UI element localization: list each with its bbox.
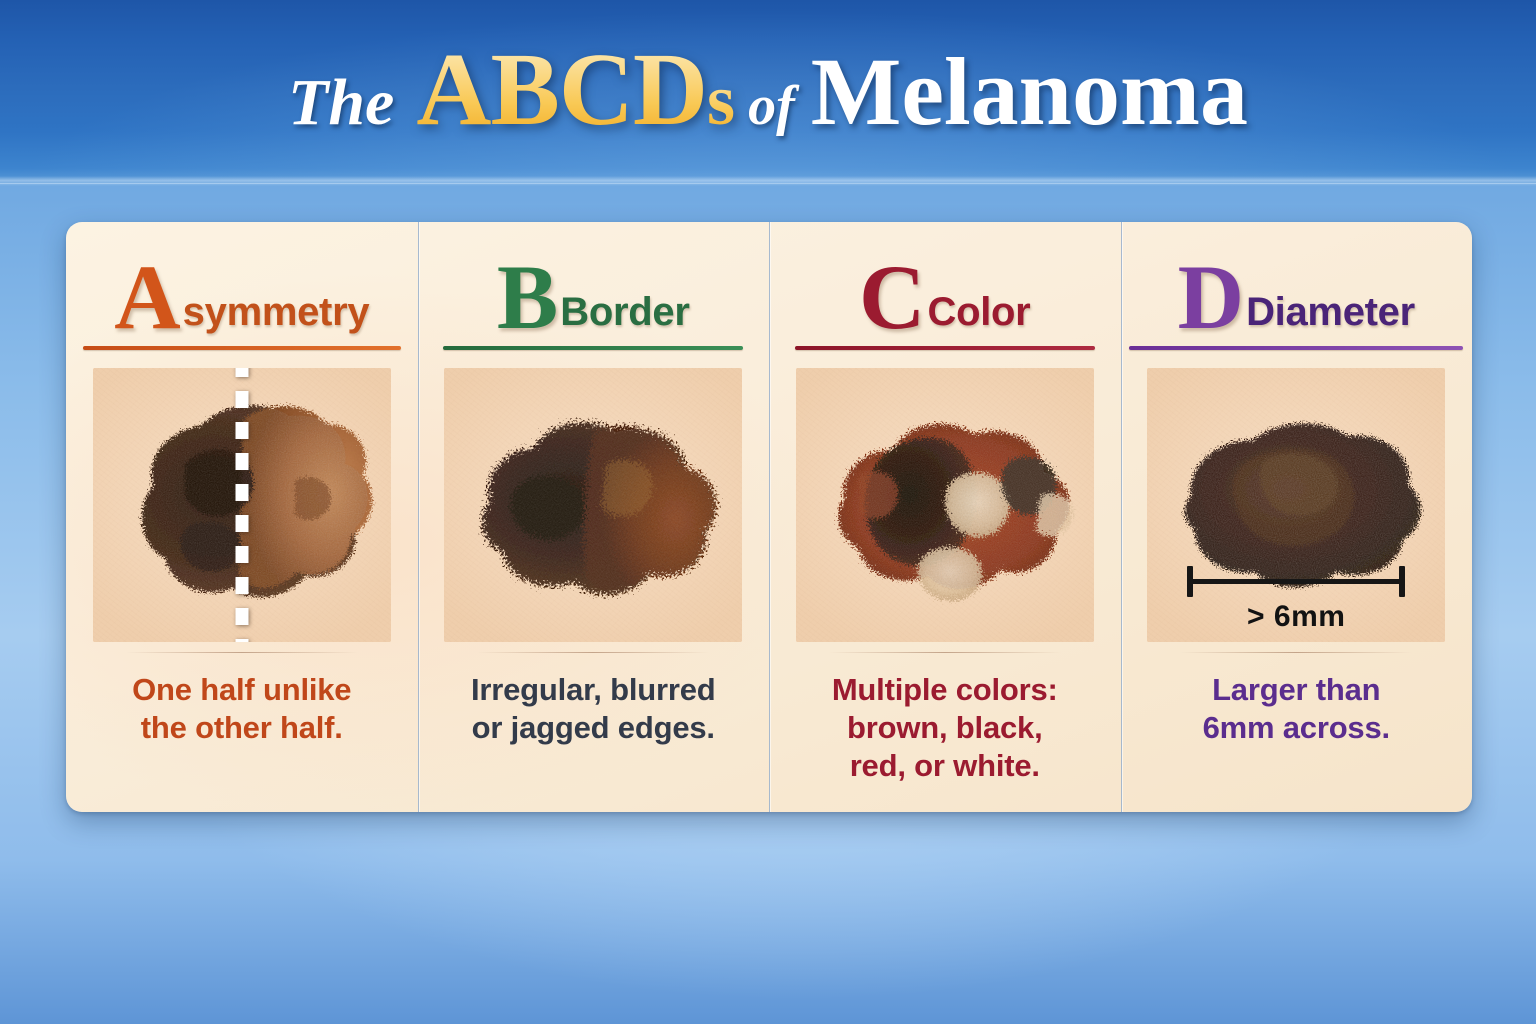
title-word-abcd: ABCD [416,32,707,147]
caption-asymmetry: One half unlike the other half. [118,671,365,747]
rule-diameter [1129,346,1463,350]
caption-color-line-2: brown, black, [832,709,1058,747]
rule-asymmetry [83,346,401,350]
panel-separator-line [126,652,358,653]
rule-color [795,346,1095,350]
panel-separator-line [829,652,1061,653]
caption-border: Irregular, blurred or jagged edges. [457,671,729,747]
word-color: Color [926,292,1031,340]
caption-diameter: Larger than 6mm across. [1189,671,1404,747]
lesion-image-diameter: > 6mm [1147,368,1445,642]
caption-color-line-1: Multiple colors: [832,671,1058,709]
title-word-melanoma: Melanoma [811,38,1248,145]
lesion-image-border [444,368,742,642]
caption-border-line-1: Irregular, blurred [471,671,715,709]
lesion-color-shape [796,368,1094,642]
lesion-image-asymmetry [93,368,391,642]
panel-asymmetry: A symmetry [66,222,418,812]
panel-diameter-heading: D Diameter [1178,244,1415,340]
letter-c: C [859,255,925,340]
diameter-measure-bar [1183,566,1409,600]
caption-color: Multiple colors: brown, black, red, or w… [818,671,1072,784]
panel-diameter: D Diameter [1121,222,1473,812]
caption-border-line-2: or jagged edges. [471,709,715,747]
page-title: TheABCDsofMelanoma [0,38,1536,142]
word-asymmetry: symmetry [181,292,370,340]
title-word-of: of [748,75,795,137]
caption-diameter-line-1: Larger than [1203,671,1390,709]
measure-line [1189,579,1403,584]
panel-color-heading: C Color [859,244,1030,340]
panel-separator-line [477,652,709,653]
caption-asymmetry-line-2: the other half. [132,709,351,747]
title-word-abcd-plural-s: s [707,60,734,140]
letter-a: A [114,255,180,340]
letter-d: D [1178,255,1244,340]
caption-diameter-line-2: 6mm across. [1203,709,1390,747]
asymmetry-dashed-midline [235,368,248,642]
rule-border [443,346,743,350]
caption-asymmetry-line-1: One half unlike [132,671,351,709]
panel-border: B Border [418,222,770,812]
word-diameter: Diameter [1244,292,1415,340]
title-word-the: The [288,66,394,139]
word-border: Border [558,292,689,340]
caption-color-line-3: red, or white. [832,747,1058,785]
panel-separator-line [1180,652,1412,653]
infographic-root: TheABCDsofMelanoma A symmetry [0,0,1536,1024]
panel-asymmetry-heading: A symmetry [114,244,369,340]
measure-label: > 6mm [1147,600,1445,634]
abcd-card: A symmetry [66,222,1472,812]
measure-cap-right [1399,566,1405,597]
lesion-border-shape [444,368,742,642]
letter-b: B [497,255,558,340]
lesion-image-color [796,368,1094,642]
panel-color: C Color [769,222,1121,812]
panel-border-heading: B Border [497,244,690,340]
